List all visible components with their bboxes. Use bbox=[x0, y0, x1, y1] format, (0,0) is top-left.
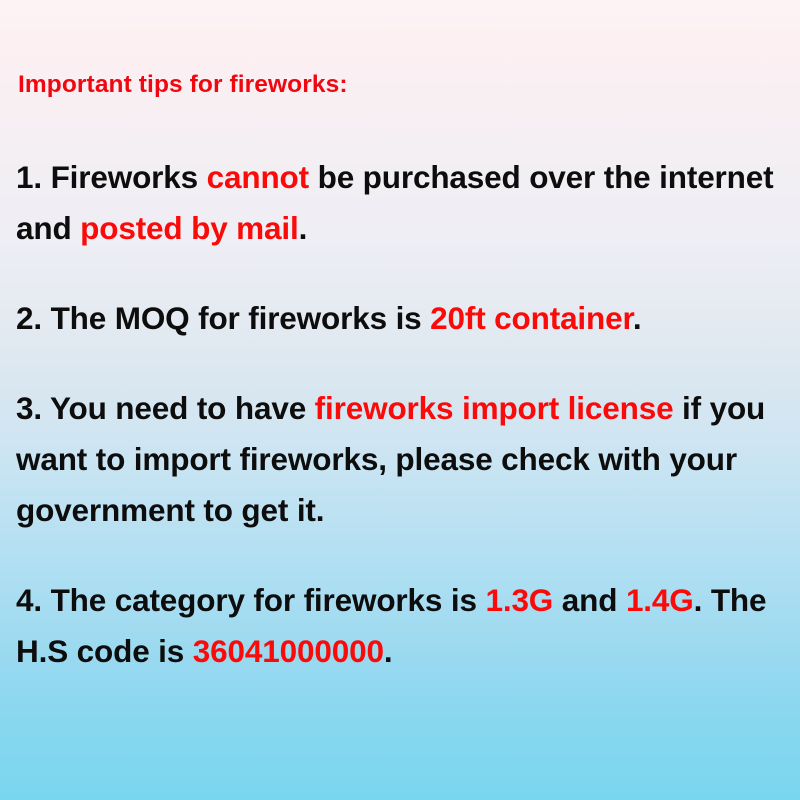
tip-4-segment-2: 1.3G bbox=[485, 582, 553, 618]
fireworks-tips-poster: Important tips for fireworks: 1. Firewor… bbox=[0, 0, 800, 800]
tip-item-3: 3. You need to have fireworks import lic… bbox=[16, 383, 786, 536]
tip-4-segment-7: . bbox=[384, 633, 393, 669]
tip-4-segment-1: 4. The category for fireworks is bbox=[16, 582, 485, 618]
tip-4-segment-3: and bbox=[553, 582, 626, 618]
tip-2-segment-2: 20ft container bbox=[430, 300, 633, 336]
tip-2-segment-1: 2. The MOQ for fireworks is bbox=[16, 300, 430, 336]
tip-1-segment-5: . bbox=[299, 210, 308, 246]
tip-3-segment-2: fireworks import license bbox=[315, 390, 674, 426]
tip-1-segment-4: posted by mail bbox=[80, 210, 298, 246]
tip-4-segment-6: 36041000000 bbox=[193, 633, 384, 669]
tip-4-segment-4: 1.4G bbox=[626, 582, 694, 618]
tips-list: 1. Fireworks cannot be purchased over th… bbox=[16, 152, 786, 677]
tip-1-segment-2: cannot bbox=[207, 159, 309, 195]
tip-1-segment-1: 1. Fireworks bbox=[16, 159, 207, 195]
tip-3-segment-1: 3. You need to have bbox=[16, 390, 315, 426]
tip-item-4: 4. The category for fireworks is 1.3G an… bbox=[16, 575, 786, 677]
tip-item-2: 2. The MOQ for fireworks is 20ft contain… bbox=[16, 293, 786, 344]
tip-2-segment-3: . bbox=[633, 300, 642, 336]
tip-item-1: 1. Fireworks cannot be purchased over th… bbox=[16, 152, 786, 254]
page-title: Important tips for fireworks: bbox=[18, 70, 348, 100]
